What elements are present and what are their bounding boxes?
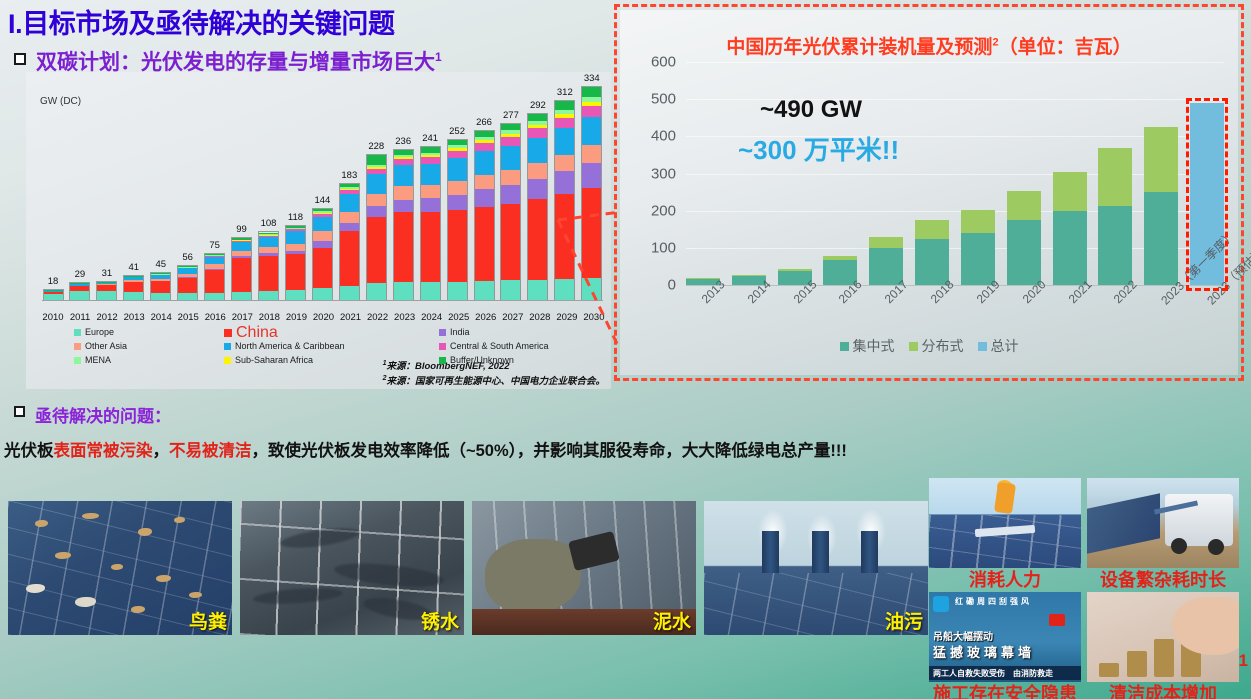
bar-column: 183 bbox=[338, 86, 360, 301]
bar-segment-north-america-caribbean bbox=[528, 138, 547, 163]
bar-total-label: 45 bbox=[155, 259, 166, 270]
photo-caption: 鸟粪 bbox=[189, 607, 227, 634]
bar-stack bbox=[150, 272, 171, 301]
china-chart-title-text: 中国历年光伏累计装机量及预测 bbox=[726, 37, 992, 58]
bar-segment-north-america-caribbean bbox=[232, 242, 251, 251]
bar-segment-north-america-caribbean bbox=[205, 257, 224, 264]
bar-column: 75 bbox=[204, 86, 226, 301]
news-headline-4: 两工人自救失败受伤 由消防救走 bbox=[933, 668, 1053, 679]
x-axis-label-slot: 2017 bbox=[869, 288, 903, 384]
bar-column: 41 bbox=[123, 86, 145, 301]
footnote-2-text: 来源：国家可再生能源中心、中国电力企业联合会。 bbox=[386, 376, 605, 387]
legend-item-总计: 总计 bbox=[978, 340, 1019, 353]
china-chart-legend: 集中式分布式总计 bbox=[620, 340, 1238, 353]
legend-item-mena: MENA bbox=[74, 354, 224, 367]
bar-column bbox=[869, 62, 903, 285]
bar-segment-china bbox=[313, 248, 332, 288]
bar-segment-europe bbox=[124, 292, 143, 300]
legend-label: China bbox=[236, 326, 278, 339]
bar-segment-europe bbox=[259, 291, 278, 300]
x-axis-label-slot: 2014 bbox=[732, 288, 766, 384]
x-axis-label: 2019 bbox=[285, 312, 307, 323]
bar-segment-europe bbox=[340, 286, 359, 300]
bar-total-label: 334 bbox=[584, 73, 600, 84]
bullet-square-icon-2 bbox=[14, 406, 25, 417]
bar-segment-china bbox=[286, 254, 305, 290]
bar-segment-china bbox=[259, 256, 278, 292]
x-axis-label: 2014 bbox=[150, 312, 172, 323]
bar-column: 18 bbox=[42, 86, 64, 301]
bar-stack bbox=[69, 282, 90, 301]
bar-stack bbox=[339, 183, 360, 301]
x-axis-label-slot: 2022 bbox=[1098, 288, 1132, 384]
bar-total-label: 292 bbox=[530, 100, 546, 111]
bar-segment-china bbox=[340, 231, 359, 286]
china-pv-chart: 中国历年光伏累计装机量及预测2（单位：吉瓦） 01002003004005006… bbox=[620, 10, 1238, 375]
bar-segment-india bbox=[528, 179, 547, 199]
bar-total-label: 108 bbox=[261, 218, 277, 229]
x-axis-label: 2013 bbox=[123, 312, 145, 323]
bar-segment-europe bbox=[421, 282, 440, 300]
problem-title: 亟待解决的问题： bbox=[35, 402, 171, 427]
page-title: I.目标市场及亟待解决的关键问题 bbox=[8, 2, 395, 41]
chart-footnotes: 1来源：BloombergNEF, 2022 2来源：国家可再生能源中心、中国电… bbox=[383, 358, 605, 388]
y-axis-tick: 500 bbox=[651, 91, 676, 108]
bar-segment-central-south-america bbox=[528, 128, 547, 138]
bar-column: 99 bbox=[231, 86, 253, 301]
bar-segment-china bbox=[555, 194, 574, 279]
bar-segment-north-america-caribbean bbox=[259, 237, 278, 247]
bar-total-label: 236 bbox=[395, 136, 411, 147]
x-axis-label: 2030 bbox=[583, 312, 605, 323]
bar-stack bbox=[204, 253, 225, 301]
worker-body bbox=[994, 482, 1016, 514]
bar-segment-india bbox=[340, 223, 359, 231]
news-headline-1: 红磡周四刮强风 bbox=[955, 596, 1077, 607]
bar-stack bbox=[96, 281, 117, 301]
legend-item-europe: Europe bbox=[74, 326, 224, 339]
bar-segment-north-america-caribbean bbox=[555, 128, 574, 155]
bar-column: 252 bbox=[446, 86, 468, 301]
bar-segment-north-america-caribbean bbox=[286, 231, 305, 244]
x-axis-label: 2021 bbox=[340, 312, 362, 323]
bar-segment-other-asia bbox=[475, 175, 494, 190]
bar-total-label: 31 bbox=[102, 268, 113, 279]
bar-segment-europe bbox=[448, 282, 467, 300]
bar-segment-other-asia bbox=[367, 194, 386, 206]
photo-caption: 泥水 bbox=[653, 607, 691, 634]
legend-swatch bbox=[909, 342, 918, 351]
bar-column bbox=[915, 62, 949, 285]
legend-label: Europe bbox=[85, 326, 114, 339]
bar-segment-india bbox=[555, 171, 574, 194]
bar-stack bbox=[258, 231, 279, 301]
bar-segment-central-south-america bbox=[501, 137, 520, 146]
bar-column bbox=[1053, 62, 1087, 285]
bar-segment-europe bbox=[394, 282, 413, 300]
bar-column: 312 bbox=[554, 86, 576, 301]
left-chart-axis-line bbox=[42, 300, 603, 301]
bar-segment-分布式 bbox=[915, 220, 949, 239]
legend-swatch bbox=[74, 357, 81, 364]
bar-segment-europe bbox=[501, 280, 520, 300]
bar-segment-other-asia bbox=[340, 212, 359, 223]
legend-label: Other Asia bbox=[85, 340, 127, 353]
bar-total-label: 252 bbox=[449, 126, 465, 137]
bar-segment-china bbox=[367, 217, 386, 283]
bar-segment-india bbox=[394, 200, 413, 213]
equipment-complexity-cell: 设备繁杂耗时长 bbox=[1087, 478, 1239, 592]
x-axis-label-slot: 2015 bbox=[778, 288, 812, 384]
problem-text-part-4: ，致使光伏板发电效率降低（~50%），并影响其服役寿命，大大降低绿电总产量!!! bbox=[252, 442, 847, 460]
bar-segment-china bbox=[151, 281, 170, 292]
sub-bullet-label: 双碳计划：光伏发电的存量与增量市场巨大 bbox=[36, 51, 435, 74]
y-axis-tick: 200 bbox=[651, 202, 676, 219]
bar-segment-china bbox=[501, 204, 520, 280]
legend-item-north-america-caribbean: North America & Caribbean bbox=[224, 340, 439, 353]
bar-column: 277 bbox=[500, 86, 522, 301]
bar-segment-buffer-unknown bbox=[555, 101, 574, 109]
solar-grid-overlay bbox=[929, 515, 1081, 568]
solar-array bbox=[1087, 494, 1160, 555]
legend-label: Central & South America bbox=[450, 340, 549, 353]
bar-stack bbox=[177, 265, 198, 301]
legend-item-集中式: 集中式 bbox=[840, 340, 895, 353]
bar-stack bbox=[123, 275, 144, 301]
bar-total-label: 266 bbox=[476, 117, 492, 128]
bar-column: 144 bbox=[311, 86, 333, 301]
bar-total-label: 277 bbox=[503, 110, 519, 121]
bar-segment-other-asia bbox=[394, 186, 413, 199]
bar-segment-north-america-caribbean bbox=[421, 164, 440, 185]
bar-stack bbox=[285, 225, 306, 301]
china-chart-title-unit: （单位：吉瓦） bbox=[999, 37, 1132, 58]
bar-segment-集中式 bbox=[1144, 192, 1178, 285]
bar-segment-分布式 bbox=[1144, 127, 1178, 192]
bar-column: 45 bbox=[150, 86, 172, 301]
bar-segment-china bbox=[582, 188, 601, 277]
page-number: 1 bbox=[1239, 651, 1248, 671]
legend-item-india: India bbox=[439, 326, 619, 339]
bar-column: 266 bbox=[473, 86, 495, 301]
safety-hazard-photo: 红磡周四刮强风 吊船大幅摆动 猛撼玻璃幕墙 两工人自救失败受伤 由消防救走 bbox=[929, 592, 1081, 682]
x-axis-label: 2025 bbox=[448, 312, 470, 323]
bar-segment-buffer-unknown bbox=[528, 114, 547, 121]
bar-total-label: 99 bbox=[236, 224, 247, 235]
bar-segment-china bbox=[448, 210, 467, 282]
bar-column: 236 bbox=[392, 86, 414, 301]
bar-column: 29 bbox=[69, 86, 91, 301]
x-axis-label-slot: 2021 bbox=[1053, 288, 1087, 384]
photo-caption: 油污 bbox=[885, 607, 923, 634]
bar-column bbox=[961, 62, 995, 285]
china-pv-highlight-panel: 中国历年光伏累计装机量及预测2（单位：吉瓦） 01002003004005006… bbox=[614, 4, 1244, 381]
bar-total-label: 241 bbox=[422, 133, 438, 144]
bar-segment-分布式 bbox=[1098, 148, 1132, 206]
x-axis-label: 2011 bbox=[69, 312, 91, 323]
bar-segment-central-south-america bbox=[475, 143, 494, 151]
left-chart-x-labels: 2010201120122013201420152016201720182019… bbox=[42, 312, 605, 323]
photo-caption: 施工存在安全隐患 bbox=[929, 682, 1081, 699]
china-chart-y-axis: 0100200300400500600 bbox=[620, 62, 682, 285]
news-headline-2: 吊船大幅摆动 bbox=[933, 628, 993, 643]
gloved-hand bbox=[485, 539, 581, 613]
bar-column bbox=[1144, 62, 1178, 285]
x-axis-label: 2023 bbox=[394, 312, 416, 323]
bar-total-label: 312 bbox=[557, 87, 573, 98]
legend-swatch bbox=[439, 343, 446, 350]
x-axis-label: 2022 bbox=[367, 312, 389, 323]
legend-swatch bbox=[224, 343, 231, 350]
global-pv-capacity-chart: GW (DC) 18293141455675991081181441832282… bbox=[26, 72, 611, 389]
bar-segment-other-asia bbox=[313, 231, 332, 241]
problem-text-part-1: 表面常被污染 bbox=[54, 442, 153, 460]
bar-column: 292 bbox=[527, 86, 549, 301]
bar-segment-europe bbox=[178, 293, 197, 300]
bar-stack bbox=[474, 130, 495, 301]
callout-area-sqm: ~300 万平米!! bbox=[738, 130, 899, 167]
legend-label: 总计 bbox=[991, 340, 1019, 353]
bar-stack bbox=[447, 139, 468, 301]
photo-caption: 消耗人力 bbox=[929, 568, 1081, 592]
channel-logo-icon bbox=[933, 596, 949, 612]
y-axis-tick: 0 bbox=[668, 277, 676, 294]
legend-swatch bbox=[224, 329, 232, 337]
x-axis-label-slot: 2016 bbox=[823, 288, 857, 384]
legend-swatch bbox=[74, 329, 81, 336]
bar-column bbox=[1007, 62, 1041, 285]
x-axis-label: 2027 bbox=[502, 312, 524, 323]
bar-segment-europe bbox=[555, 279, 574, 300]
bar-segment-central-south-america bbox=[582, 106, 601, 117]
bar-segment-other-asia bbox=[501, 170, 520, 185]
bar-segment-india bbox=[367, 206, 386, 217]
bar-segment-集中式 bbox=[1053, 211, 1087, 285]
x-axis-label: 2012 bbox=[96, 312, 118, 323]
bar-segment-europe bbox=[528, 280, 547, 300]
bar-segment-分布式 bbox=[1053, 172, 1087, 212]
bar-segment-central-south-america bbox=[448, 151, 467, 159]
bar-segment-buffer-unknown bbox=[582, 87, 601, 97]
x-axis-label-slot: 2020 bbox=[1007, 288, 1041, 384]
breaking-badge bbox=[1049, 614, 1065, 626]
bar-total-label: 144 bbox=[314, 195, 330, 206]
bar-segment-other-asia bbox=[582, 145, 601, 163]
left-chart-plot-area: 1829314145567599108118144183228236241252… bbox=[36, 86, 605, 301]
bar-stack bbox=[393, 149, 414, 301]
x-axis-label: 2028 bbox=[529, 312, 551, 323]
bar-stack bbox=[420, 146, 441, 301]
bar-stack bbox=[581, 86, 602, 301]
x-axis-label: 2029 bbox=[556, 312, 578, 323]
y-axis-tick: 300 bbox=[651, 165, 676, 182]
manual-labor-photo bbox=[929, 478, 1081, 568]
bar-segment-central-south-america bbox=[421, 157, 440, 164]
bar-column: 31 bbox=[96, 86, 118, 301]
bar-segment-india bbox=[582, 163, 601, 189]
x-axis-label: 2015 bbox=[177, 312, 199, 323]
bar-segment-north-america-caribbean bbox=[313, 217, 332, 231]
bar-segment-china bbox=[421, 212, 440, 282]
legend-label: Sub-Saharan Africa bbox=[235, 354, 313, 367]
bar-segment-other-asia bbox=[421, 185, 440, 198]
bar-segment-china bbox=[475, 207, 494, 281]
bar-segment-china bbox=[528, 199, 547, 279]
bar-segment-europe bbox=[475, 281, 494, 300]
bar-column: 334 bbox=[581, 86, 603, 301]
bar-segment-集中式 bbox=[961, 233, 995, 285]
bar-column bbox=[1098, 62, 1132, 285]
legend-swatch bbox=[74, 343, 81, 350]
bar-segment-集中式 bbox=[1007, 220, 1041, 285]
rust-water-photo: 锈水 bbox=[240, 501, 464, 635]
bar-segment-europe bbox=[582, 278, 601, 300]
photo-caption: 锈水 bbox=[421, 607, 459, 634]
news-headline-3: 猛撼玻璃幕墙 bbox=[933, 642, 1035, 661]
bar-segment-india bbox=[448, 195, 467, 210]
bar-segment-north-america-caribbean bbox=[340, 194, 359, 212]
photo-caption: 清洁成本增加 bbox=[1087, 682, 1239, 699]
oil-stain-photo: 油污 bbox=[704, 501, 928, 635]
bar-segment-europe bbox=[232, 292, 251, 300]
photo-caption: 设备繁杂耗时长 bbox=[1087, 568, 1239, 592]
bar-stack bbox=[366, 154, 387, 301]
china-chart-x-labels: 2013201420152016201720182019202020212022… bbox=[686, 288, 1224, 384]
legend-label: India bbox=[450, 326, 470, 339]
legend-label: 集中式 bbox=[853, 340, 895, 353]
dirt-type-photo-row: 鸟粪 锈水 泥水 油污 bbox=[8, 501, 928, 635]
bar-stack bbox=[527, 113, 548, 301]
bar-total-label: 228 bbox=[368, 141, 384, 152]
bar-column: 56 bbox=[177, 86, 199, 301]
bar-segment-china bbox=[205, 270, 224, 292]
legend-label: North America & Caribbean bbox=[235, 340, 345, 353]
bar-segment-other-asia bbox=[448, 181, 467, 195]
equipment-complexity-photo bbox=[1087, 478, 1239, 568]
bar-total-label: 183 bbox=[341, 170, 357, 181]
bar-total-label: 41 bbox=[129, 262, 140, 273]
y-axis-tick: 400 bbox=[651, 128, 676, 145]
x-axis-label-slot: 2019 bbox=[961, 288, 995, 384]
x-axis-label: 2020 bbox=[312, 312, 334, 323]
bar-stack bbox=[312, 208, 333, 301]
problem-text-part-0: 光伏板 bbox=[4, 442, 54, 460]
x-axis-label: 2024 bbox=[421, 312, 443, 323]
legend-swatch bbox=[978, 342, 987, 351]
legend-label: MENA bbox=[85, 354, 111, 367]
bar-segment-europe bbox=[313, 288, 332, 300]
bar-stack bbox=[554, 100, 575, 301]
cleaning-challenge-photo-grid: 消耗人力 设备繁杂耗时长 红磡周四刮强风 吊船大幅摆动 猛撼玻璃幕墙 两工人自救… bbox=[929, 478, 1239, 699]
bullet-square-icon bbox=[14, 53, 26, 65]
bar-segment-north-america-caribbean bbox=[367, 174, 386, 194]
x-axis-label-slot: 2023（预估） bbox=[1190, 288, 1224, 384]
china-chart-title: 中国历年光伏累计装机量及预测2（单位：吉瓦） bbox=[620, 32, 1238, 59]
left-chart-bars: 1829314145567599108118144183228236241252… bbox=[42, 86, 603, 301]
bar-segment-north-america-caribbean bbox=[394, 165, 413, 186]
bar-segment-europe bbox=[286, 290, 305, 300]
bar-segment-other-asia bbox=[286, 244, 305, 252]
cleaning-cost-photo bbox=[1087, 592, 1239, 682]
legend-swatch bbox=[439, 329, 446, 336]
y-axis-tick: 100 bbox=[651, 239, 676, 256]
problem-text-part-2: ， bbox=[153, 442, 170, 460]
bar-segment-europe bbox=[97, 291, 116, 300]
bar-stack bbox=[231, 237, 252, 301]
bar-segment-north-america-caribbean bbox=[448, 158, 467, 180]
bar-segment-other-asia bbox=[555, 155, 574, 172]
y-axis-tick: 600 bbox=[651, 54, 676, 71]
x-axis-label: 2026 bbox=[475, 312, 497, 323]
legend-item-分布式: 分布式 bbox=[909, 340, 964, 353]
x-axis-label-slot: 2018 bbox=[915, 288, 949, 384]
x-axis-label-slot: 2013 bbox=[686, 288, 720, 384]
safety-hazard-cell: 红磡周四刮强风 吊船大幅摆动 猛撼玻璃幕墙 两工人自救失败受伤 由消防救走 施工… bbox=[929, 592, 1081, 699]
sub-bullet-superscript: 1 bbox=[435, 50, 442, 64]
x-axis-label: 2018 bbox=[258, 312, 280, 323]
bar-segment-buffer-unknown bbox=[367, 155, 386, 164]
x-axis-label: 2016 bbox=[204, 312, 226, 323]
bar-segment-集中式 bbox=[1098, 206, 1132, 285]
problem-bullet: 亟待解决的问题： bbox=[14, 402, 171, 427]
bar-segment-india bbox=[501, 185, 520, 203]
bar-column: 118 bbox=[284, 86, 306, 301]
bar-segment-europe bbox=[70, 291, 89, 300]
bar-total-label: 29 bbox=[75, 269, 86, 280]
legend-swatch bbox=[224, 357, 231, 364]
manual-labor-cell: 消耗人力 bbox=[929, 478, 1081, 592]
bar-segment-north-america-caribbean bbox=[582, 117, 601, 145]
bar-column: 241 bbox=[419, 86, 441, 301]
legend-item-other-asia: Other Asia bbox=[74, 340, 224, 353]
bar-segment-china bbox=[232, 258, 251, 292]
bar-stack bbox=[500, 123, 521, 301]
bar-segment-china bbox=[394, 212, 413, 282]
bar-segment-north-america-caribbean bbox=[475, 151, 494, 175]
bar-segment-north-america-caribbean bbox=[501, 146, 520, 170]
bar-segment-central-south-america bbox=[555, 118, 574, 128]
bar-column: 108 bbox=[258, 86, 280, 301]
problem-text-part-3: 不易被清洁 bbox=[169, 442, 252, 460]
footnote-1-text: 来源：BloombergNEF, 2022 bbox=[386, 361, 509, 372]
x-axis-label: 2017 bbox=[231, 312, 253, 323]
bar-segment-europe bbox=[367, 283, 386, 300]
bar-segment-india bbox=[475, 189, 494, 206]
bird-droppings-photo: 鸟粪 bbox=[8, 501, 232, 635]
bar-segment-china bbox=[178, 278, 197, 293]
bar-segment-分布式 bbox=[961, 210, 995, 233]
bar-segment-india bbox=[421, 198, 440, 212]
legend-item-central-south-america: Central & South America bbox=[439, 340, 619, 353]
cleaning-cost-cell: 清洁成本增加 bbox=[1087, 592, 1239, 699]
legend-swatch bbox=[840, 342, 849, 351]
callout-capacity-gw: ~490 GW bbox=[760, 96, 862, 124]
x-axis-label: 2010 bbox=[42, 312, 64, 323]
bar-total-label: 18 bbox=[48, 276, 59, 287]
bar-segment-other-asia bbox=[528, 163, 547, 179]
bar-column bbox=[686, 62, 720, 285]
bar-segment-分布式 bbox=[869, 237, 903, 248]
bar-segment-europe bbox=[151, 293, 170, 300]
bar-segment-分布式 bbox=[1007, 191, 1041, 220]
legend-label: 分布式 bbox=[922, 340, 964, 353]
problem-description: 光伏板表面常被污染，不易被清洁，致使光伏板发电效率降低（~50%），并影响其服役… bbox=[4, 437, 1247, 461]
mud-water-photo: 泥水 bbox=[472, 501, 696, 635]
bar-column: 228 bbox=[365, 86, 387, 301]
bar-segment-china bbox=[124, 282, 143, 292]
bar-total-label: 75 bbox=[209, 240, 220, 251]
x-axis-label-slot: 2023（第一季度） bbox=[1144, 288, 1178, 384]
